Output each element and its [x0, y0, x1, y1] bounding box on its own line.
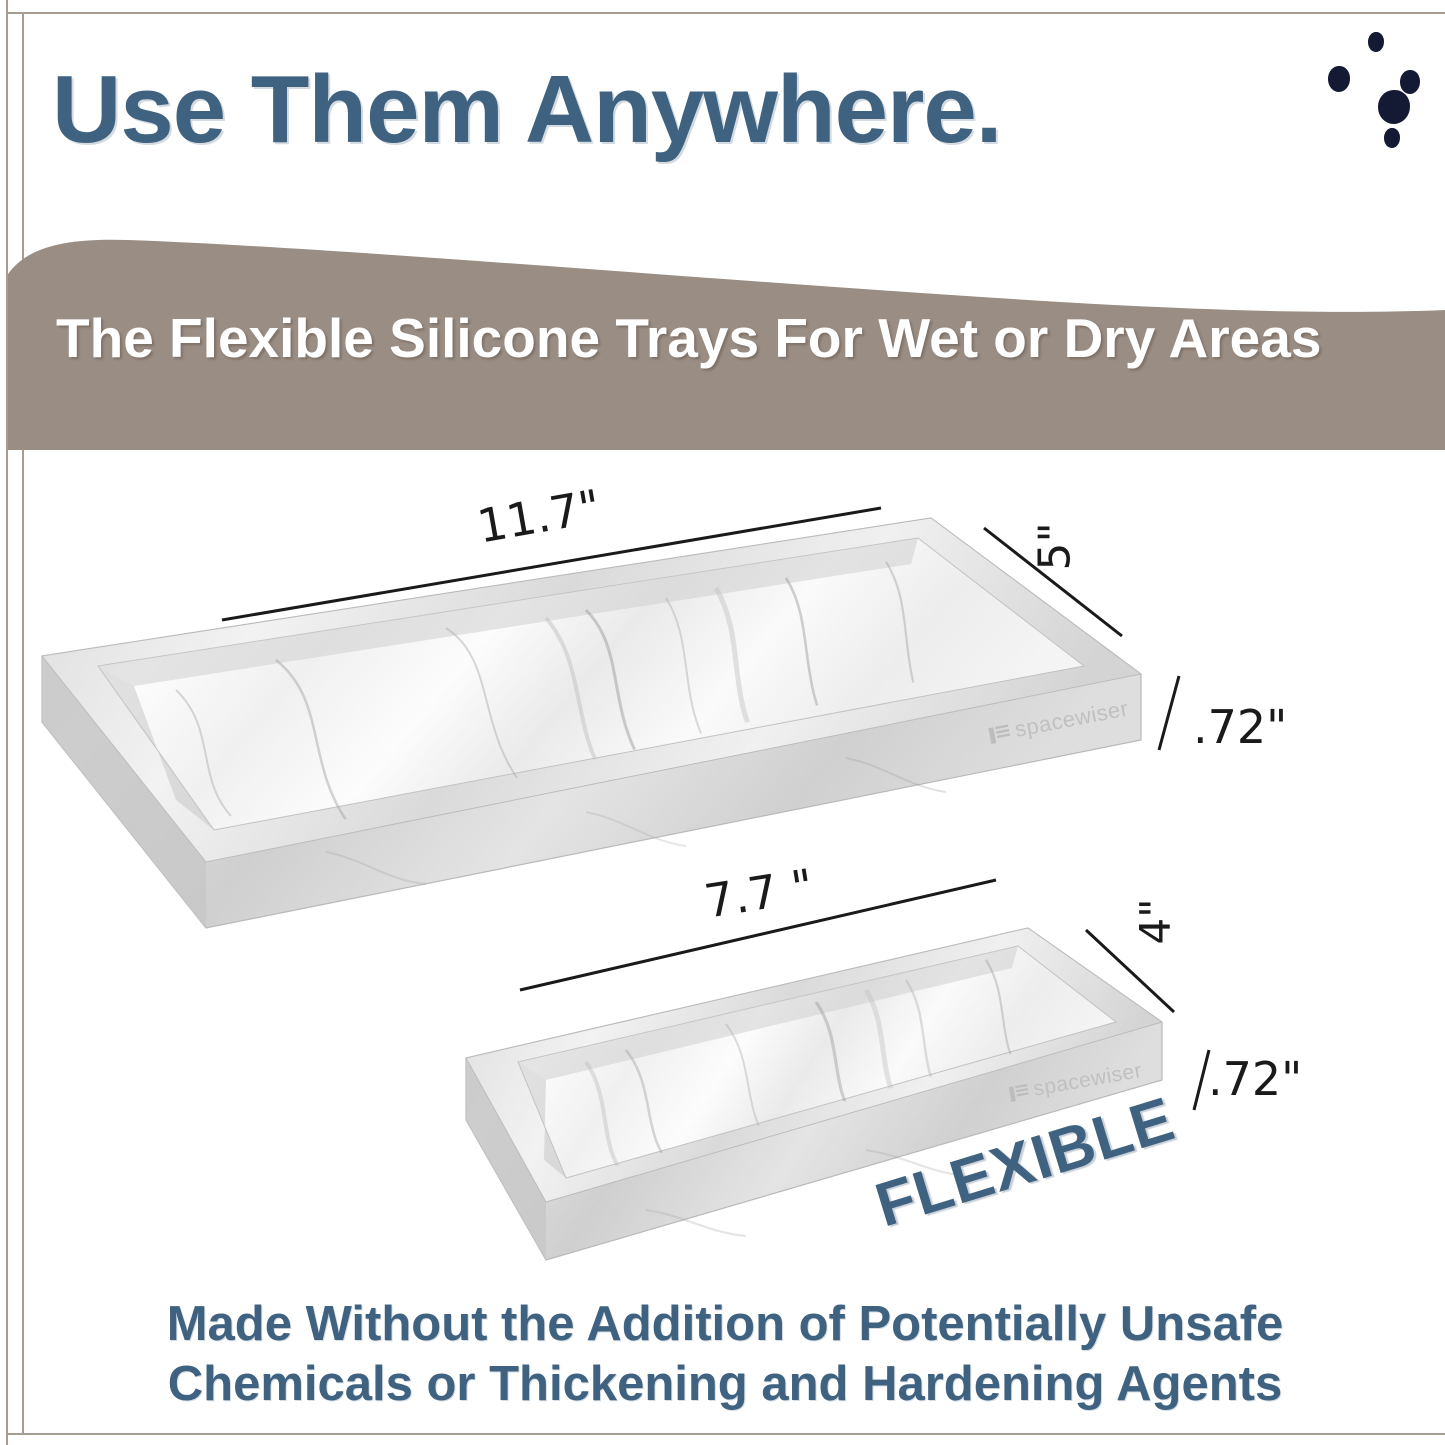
footer-line-1: Made Without the Addition of Potentially…	[30, 1295, 1420, 1355]
small-tray-width-label: 4"	[1131, 898, 1180, 944]
frame-bottom-rule	[6, 1433, 1445, 1435]
large-tray-graphic: spacewiser	[42, 518, 1141, 928]
dot-cluster-icon	[1300, 30, 1430, 180]
footer-copy: Made Without the Addition of Potentially…	[30, 1295, 1420, 1415]
decorative-dot	[1400, 70, 1420, 94]
frame-left-outer-rule	[6, 0, 8, 1445]
large-tray-width-label: 5"	[1030, 522, 1081, 570]
decorative-dot	[1328, 66, 1350, 92]
small-tray-height-label: .72"	[1208, 1052, 1302, 1106]
decorative-dot	[1368, 32, 1384, 52]
decorative-dot	[1378, 90, 1410, 124]
footer-line-2: Chemicals or Thickening and Hardening Ag…	[30, 1355, 1420, 1415]
banner-subtitle: The Flexible Silicone Trays For Wet or D…	[56, 306, 1416, 370]
infographic-canvas: Use Them Anywhere. The Flexible Silicone…	[0, 0, 1445, 1445]
frame-top-rule	[6, 12, 1445, 14]
large-tray-height-label: .72"	[1193, 700, 1287, 754]
decorative-dot	[1384, 128, 1400, 148]
page-title: Use Them Anywhere.	[52, 55, 1001, 165]
